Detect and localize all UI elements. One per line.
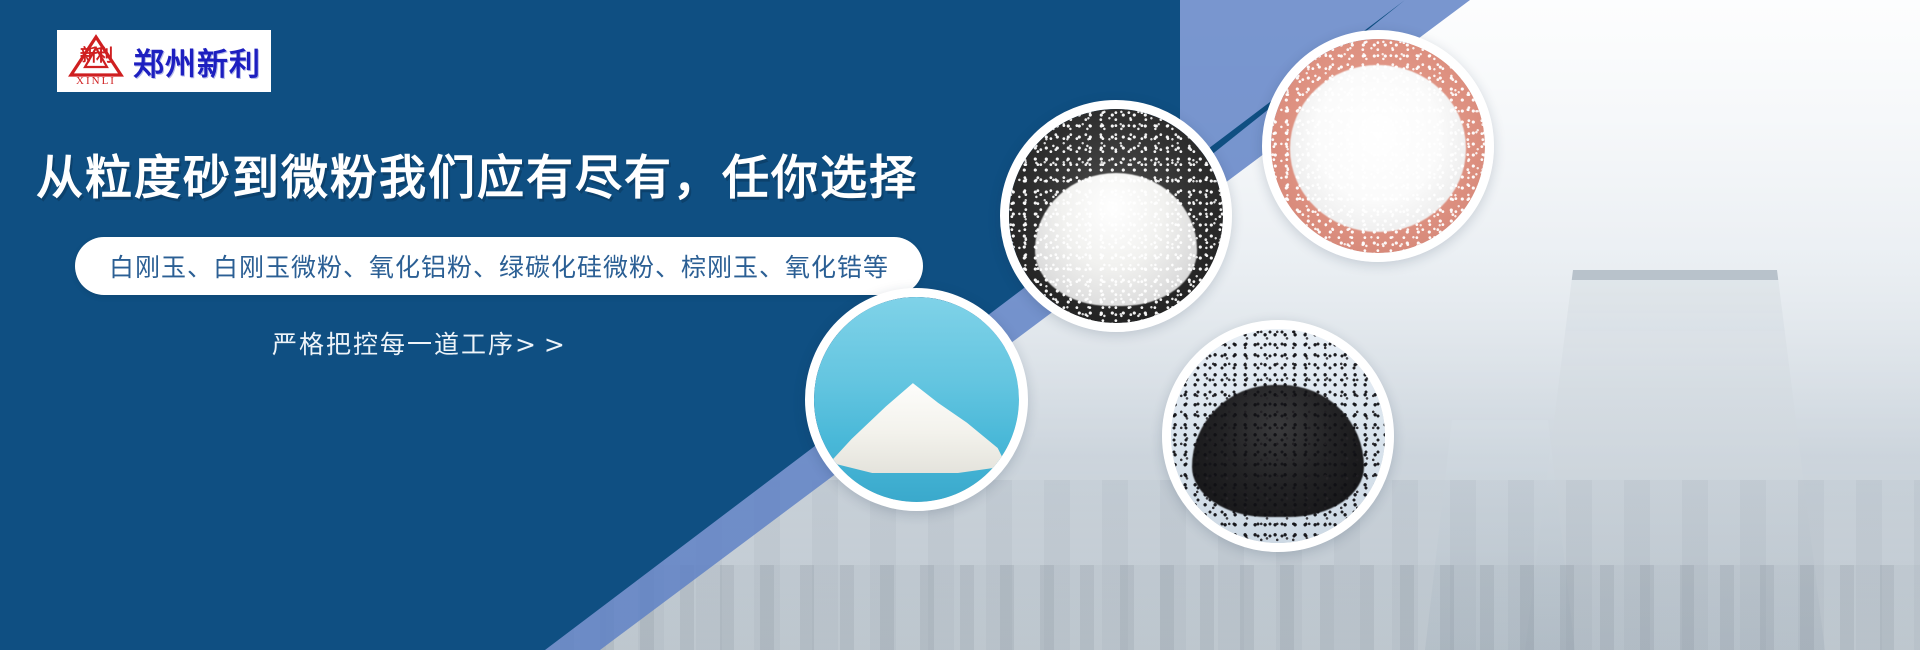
logo-triangle-mark: 新利 XINLI — [65, 32, 127, 90]
logo-mark-pinyin: XINLI — [65, 76, 127, 87]
grain-texture — [1271, 39, 1485, 253]
product-photo-white-fused-alumina-grit — [1000, 100, 1232, 332]
company-logo[interactable]: 新利 XINLI 郑州新利 — [57, 30, 271, 92]
product-photo-white-alumina-micropowder — [1262, 30, 1494, 262]
product-photo-alumina-powder-heap — [805, 288, 1028, 511]
grain-texture — [1171, 329, 1385, 543]
promo-banner: 新利 XINLI 郑州新利 从粒度砂到微粉我们应有尽有，任你选择 白刚玉、白刚玉… — [0, 0, 1920, 650]
photo-inner — [1271, 39, 1485, 253]
photo-inner — [814, 297, 1019, 502]
headline: 从粒度砂到微粉我们应有尽有，任你选择 — [36, 139, 918, 208]
product-list-pill: 白刚玉、白刚玉微粉、氧化铝粉、绿碳化硅微粉、棕刚玉、氧化锆等 — [75, 237, 923, 295]
cta-link[interactable]: 严格把控每一道工序> > — [272, 325, 565, 361]
cta-arrow-icon: > > — [515, 330, 565, 359]
product-list-text: 白刚玉、白刚玉微粉、氧化铝粉、绿碳化硅微粉、棕刚玉、氧化锆等 — [109, 248, 889, 284]
grain-texture — [1009, 109, 1223, 323]
photo-inner — [1009, 109, 1223, 323]
product-photo-black-silicon-carbide-grit — [1162, 320, 1394, 552]
photo-inner — [1171, 329, 1385, 543]
powder-heap — [826, 383, 1006, 473]
logo-mark-characters: 新利 — [69, 48, 123, 65]
cta-label: 严格把控每一道工序 — [272, 330, 515, 359]
logo-company-name: 郑州新利 — [133, 39, 261, 84]
